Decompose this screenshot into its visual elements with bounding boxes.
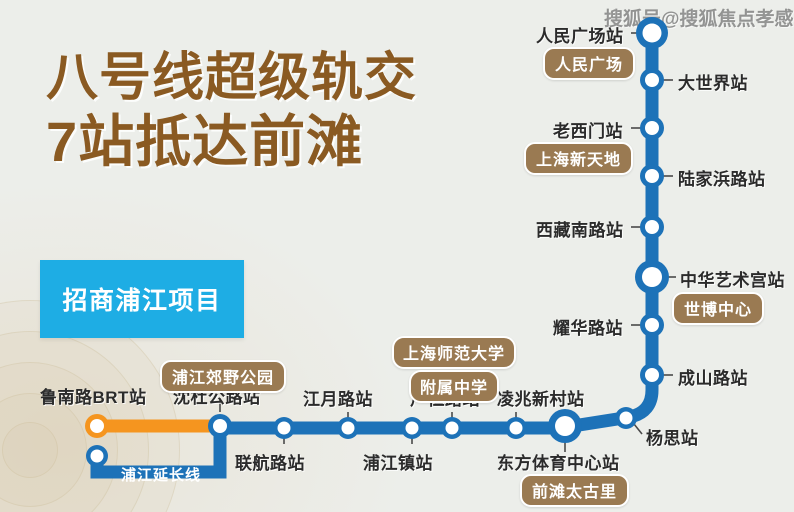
station-label-lianhang-lu: 联航路站 [235,449,305,474]
station-label-yangsi: 杨思站 [646,424,699,449]
station-label-jiangyue-lu: 江月路站 [303,385,373,410]
badge-shanghai-shifan-line2: 附属中学 [409,370,499,403]
station-dot-inner [645,318,659,332]
station-dot-inner [645,121,659,135]
station-dot-inner [446,422,459,435]
station-label-chengshan-lu: 成山路站 [678,364,748,389]
station-dot-inner [510,422,523,435]
station-dot-inner [643,24,662,43]
station-label-laoximen: 老西门站 [553,117,623,142]
station-label-renmin-guangchang: 人民广场站 [536,22,624,47]
station-label-zhonghua-yishugong: 中华艺术宫站 [680,266,785,291]
station-label-xizang-nan-lu: 西藏南路站 [536,216,624,241]
station-label-yaohua-lu: 耀华路站 [553,314,623,339]
station-dot-inner [645,73,659,87]
station-dot-inner [620,412,633,425]
badge-shanghai-shifan-line1: 上海师范大学 [392,336,516,369]
station-dot-inner [342,422,355,435]
station-dot-inner [278,422,291,435]
station-dot-inner [213,419,227,433]
badge-shanghai-xintiandi: 上海新天地 [524,142,633,175]
badge-renmin-guangchang: 人民广场 [543,47,635,80]
badge-group-shanghai-shifan: 上海师范大学 附属中学 [392,336,516,403]
badge-qiantan-taikooli: 前滩太古里 [520,474,629,507]
badge-shibo-zhongxin: 世博中心 [672,292,764,325]
station-dot-inner [645,169,659,183]
station-dot-inner [91,450,104,463]
station-dot-inner [406,422,419,435]
station-label-pujiang-zhen: 浦江镇站 [363,449,433,474]
poster-canvas: 八号线超级轨交 7站抵达前滩 招商浦江项目 搜狐号@搜狐焦点孝感站 [0,0,794,512]
station-label-dongfang-tiyu-zhongxin: 东方体育中心站 [497,449,620,474]
station-dot-inner [645,368,659,382]
station-label-lujiabang-lu: 陆家浜路站 [678,165,766,190]
station-label-dashijie: 大世界站 [678,69,748,94]
station-dot-inner [645,220,659,234]
badge-pujiang-jiaoye-gongyuan: 浦江郊野公园 [160,360,286,393]
station-dot-inner [555,416,575,436]
station-dot-inner [642,267,662,287]
branch-line-label: 浦江延长线 [115,463,207,486]
station-label-lunan-lu-brt: 鲁南路BRT站 [40,383,146,408]
station-dot-inner [90,419,104,433]
